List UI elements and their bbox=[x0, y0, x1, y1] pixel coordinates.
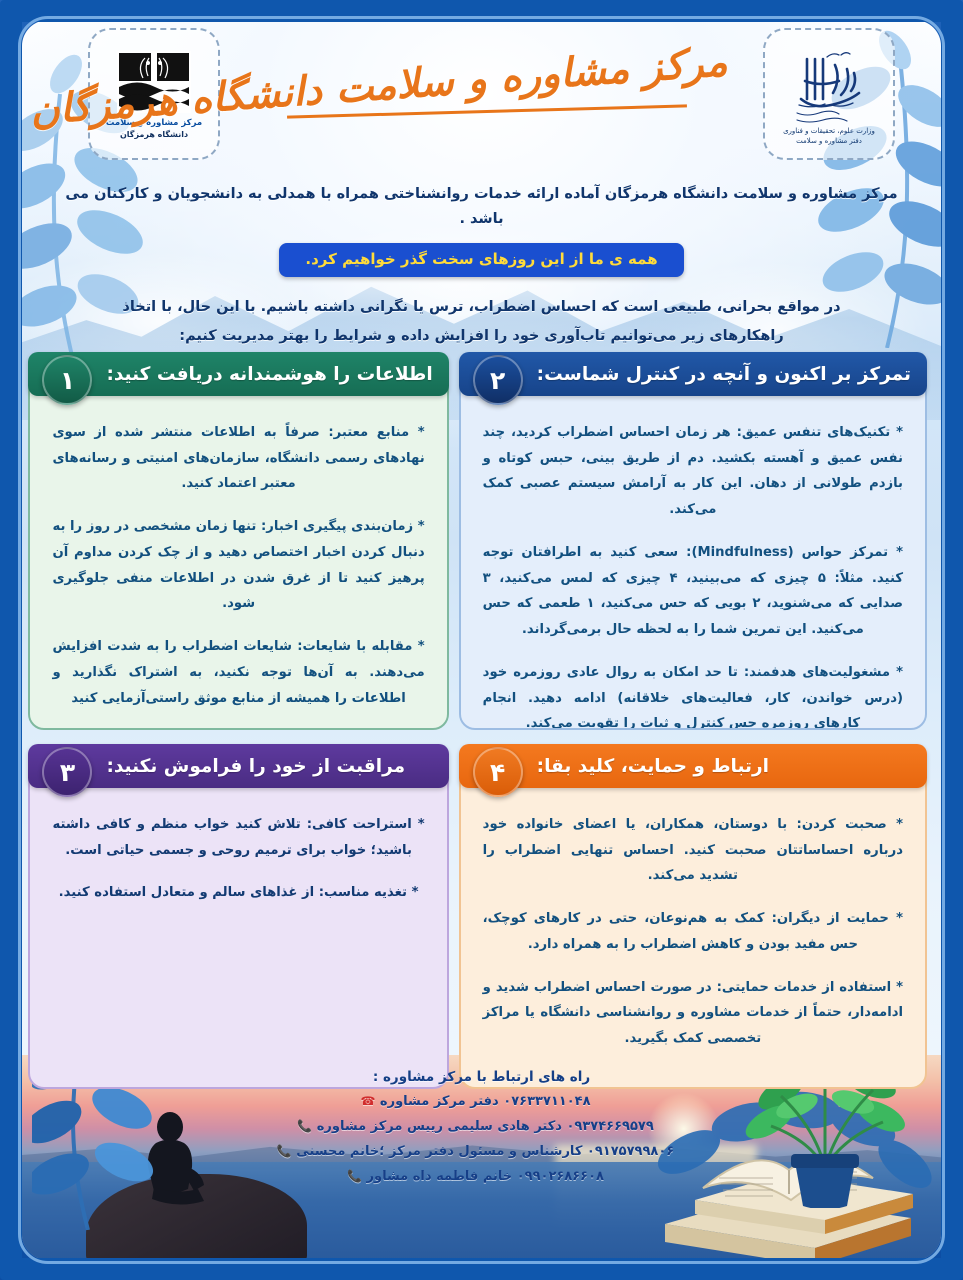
contact-label: خانم فاطمه داه مشاور bbox=[367, 1169, 513, 1184]
contact-row: ۰۷۶۳۳۷۱۱۰۴۸ دفتر مرکز مشاوره ☎ bbox=[237, 1092, 726, 1112]
tip-card-1-body: * منابع معتبر: صرفاً به اطلاعات منتشر شد… bbox=[28, 374, 448, 730]
title-block: مرکز مشاوره و سلامت دانشگاه هرمزگان bbox=[245, 54, 728, 113]
phone-handset-icon: 📞 bbox=[277, 1144, 292, 1158]
poster-header: مرکز مشاوره و سلامت دانشگاه هرمزگان bbox=[40, 24, 923, 176]
tip-card-2-number-badge: ۲ bbox=[473, 355, 523, 405]
contact-block: راه های ارتباط با مرکز مشاوره : ۰۷۶۳۳۷۱۱… bbox=[237, 1069, 726, 1193]
phone-handset-icon: 📞 bbox=[297, 1119, 312, 1133]
tip-card-1-paragraph: * زمان‌بندی پیگیری اخبار: تنها زمان مشخص… bbox=[52, 514, 424, 617]
calligraphy-emblem-icon bbox=[781, 43, 877, 125]
phone-handset-icon: 📞 bbox=[347, 1169, 362, 1183]
tip-card-1-paragraph: * مقابله با شایعات: شایعات اضطراب را به … bbox=[52, 634, 424, 711]
contact-label: دکتر هادی سلیمی رییس مرکز مشاوره bbox=[317, 1119, 562, 1134]
tip-card-1: * منابع معتبر: صرفاً به اطلاعات منتشر شد… bbox=[28, 352, 448, 730]
tip-card-2-paragraph: * مشغولیت‌های هدفمند: تا حد امکان به روا… bbox=[483, 660, 903, 730]
tip-card-4-paragraph: * استفاده از خدمات حمایتی: در صورت احساس… bbox=[483, 975, 903, 1052]
tip-card-1-heading: اطلاعات را هوشمندانه دریافت کنید: bbox=[106, 364, 432, 385]
tip-card-3: * استراحت کافی: تلاش کنید خواب منظم و کا… bbox=[28, 744, 448, 1089]
tip-card-4-number-badge: ۴ bbox=[473, 747, 523, 797]
tip-card-1-paragraph: * منابع معتبر: صرفاً به اطلاعات منتشر شد… bbox=[52, 420, 424, 497]
poster-root: مرکز مشاوره و سلامت دانشگاه هرمزگان bbox=[0, 0, 963, 1280]
intro-paragraph: در مواقع بحرانی، طبیعی است که احساس اضطر… bbox=[87, 293, 877, 351]
tip-card-2-body: * تکنیک‌های تنفس عمیق: هر زمان احساس اضط… bbox=[459, 374, 927, 730]
contact-label: کارشناس و مسئول دفتر مرکز ؛خانم محسنی bbox=[296, 1144, 582, 1159]
tip-card-2-paragraph: * تمرکز حواس (Mindfulness): سعی کنید به … bbox=[483, 540, 903, 643]
tip-card-4-paragraph: * صحبت کردن: با دوستان، همکاران، یا اعضا… bbox=[483, 812, 903, 889]
tip-card-4: * صحبت کردن: با دوستان، همکاران، یا اعضا… bbox=[459, 744, 927, 1089]
tip-card-2-heading: تمرکز بر اکنون و آنچه در کنترل شماست: bbox=[537, 364, 911, 385]
contact-number: ۰۹۹۰۲۶۸۶۶۰۸ bbox=[517, 1169, 604, 1184]
highlight-banner: همه ی ما از این روزهای سخت گذر خواهیم کر… bbox=[279, 243, 683, 277]
contact-label: دفتر مرکز مشاوره bbox=[380, 1094, 499, 1109]
tip-card-2-header: تمرکز بر اکنون و آنچه در کنترل شماست: ۲ bbox=[459, 352, 927, 396]
tip-card-3-paragraph: * استراحت کافی: تلاش کنید خواب منظم و کا… bbox=[52, 812, 424, 863]
tip-card-4-heading: ارتباط و حمایت، کلید بقا: bbox=[537, 756, 769, 777]
tip-card-2-paragraph: * تکنیک‌های تنفس عمیق: هر زمان احساس اضط… bbox=[483, 420, 903, 523]
tip-card-3-header: مراقبت از خود را فراموش نکنید: ۳ bbox=[28, 744, 448, 788]
intro-block: مرکز مشاوره و سلامت دانشگاه هرمزگان آماد… bbox=[60, 182, 903, 351]
tip-card-2: * تکنیک‌های تنفس عمیق: هر زمان احساس اضط… bbox=[459, 352, 927, 730]
logo-left-subtitle: دانشگاه هرمزگان bbox=[106, 130, 202, 141]
contact-row: ۰۹۳۷۴۶۶۹۵۷۹ دکتر هادی سلیمی رییس مرکز مش… bbox=[237, 1117, 726, 1137]
tip-card-4-paragraph: * حمایت از دیگران: کمک به هم‌نوعان، حتی … bbox=[483, 906, 903, 957]
logo-student-affairs-org: وزارت علوم، تحقیقات و فناوری دفتر مشاوره… bbox=[763, 28, 895, 160]
tip-card-4-body: * صحبت کردن: با دوستان، همکاران، یا اعضا… bbox=[459, 766, 927, 1089]
logo-right-office: دفتر مشاوره و سلامت bbox=[783, 137, 875, 147]
contact-number: ۰۷۶۳۳۷۱۱۰۴۸ bbox=[503, 1094, 590, 1109]
tip-card-1-header: اطلاعات را هوشمندانه دریافت کنید: ۱ bbox=[28, 352, 448, 396]
tip-card-3-heading: مراقبت از خود را فراموش نکنید: bbox=[106, 756, 405, 777]
person-silhouette-icon bbox=[132, 1111, 214, 1207]
contact-row: ۰۹۹۰۲۶۸۶۶۰۸ خانم فاطمه داه مشاور 📞 bbox=[237, 1167, 726, 1187]
intro-line: مرکز مشاوره و سلامت دانشگاه هرمزگان آماد… bbox=[60, 182, 903, 231]
contact-number: ۰۹۳۷۴۶۶۹۵۷۹ bbox=[566, 1119, 653, 1134]
telephone-icon: ☎ bbox=[360, 1094, 375, 1108]
tip-card-3-body: * استراحت کافی: تلاش کنید خواب منظم و کا… bbox=[28, 766, 448, 1089]
tips-grid: * تکنیک‌های تنفس عمیق: هر زمان احساس اضط… bbox=[36, 352, 927, 1089]
contact-title: راه های ارتباط با مرکز مشاوره : bbox=[237, 1069, 726, 1085]
contact-number: ۰۹۱۷۵۷۹۹۸۰۶ bbox=[587, 1144, 674, 1159]
tip-card-4-header: ارتباط و حمایت، کلید بقا: ۴ bbox=[459, 744, 927, 788]
logo-right-ministry: وزارت علوم، تحقیقات و فناوری bbox=[783, 127, 875, 137]
logo-right-caption: وزارت علوم، تحقیقات و فناوری دفتر مشاوره… bbox=[783, 127, 875, 147]
tip-card-3-paragraph: * تغذیه مناسب: از غذاهای سالم و متعادل ا… bbox=[52, 880, 424, 906]
contact-row: ۰۹۱۷۵۷۹۹۸۰۶ کارشناس و مسئول دفتر مرکز ؛خ… bbox=[237, 1142, 726, 1162]
